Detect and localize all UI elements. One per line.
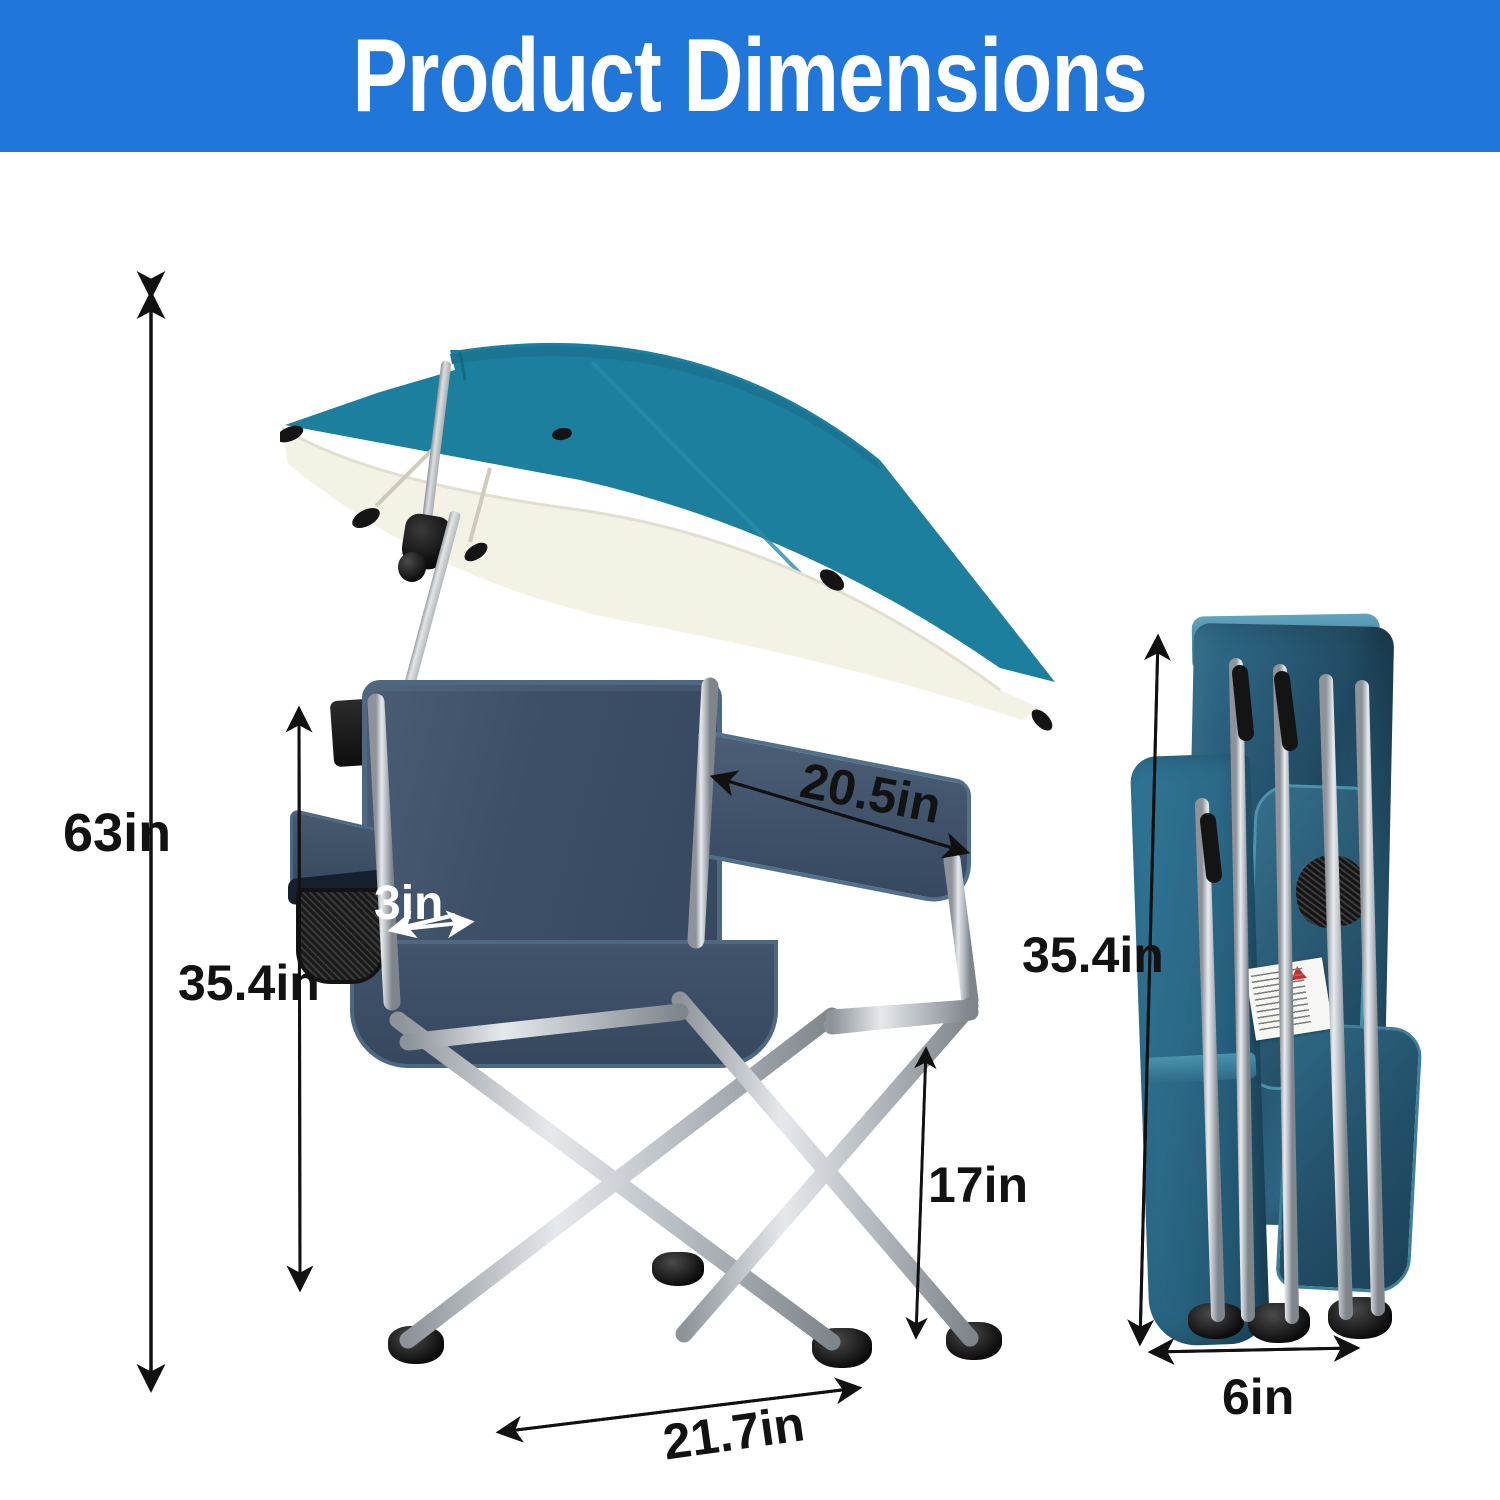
dimension-label-folded-width: 6in <box>1222 1372 1294 1422</box>
dimension-label-chair-height: 35.4in <box>178 958 320 1008</box>
dimension-label-folded-length: 35.4in <box>1022 930 1164 980</box>
dimension-label-overall-height: 63in <box>63 806 171 860</box>
dimension-label-seat-height: 17in <box>928 1160 1028 1210</box>
dimension-arrows <box>0 0 1500 1500</box>
dimension-line-folded-length <box>1140 638 1158 1342</box>
dimension-line-folded-width <box>1152 1348 1356 1352</box>
product-dimensions-page: Product Dimensions <box>0 0 1500 1500</box>
dimension-line-seat-height <box>916 1050 926 1336</box>
dimension-label-cupholder-width: 3in <box>374 880 443 928</box>
